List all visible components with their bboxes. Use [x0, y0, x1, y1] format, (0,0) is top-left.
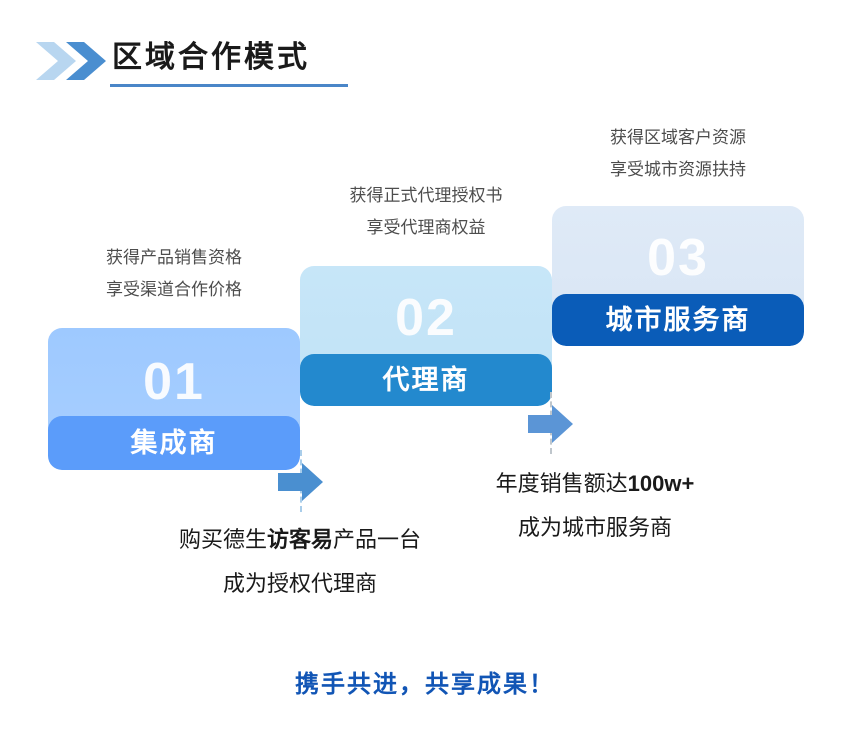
- connector-2-arrow-icon: [528, 404, 574, 449]
- connector-1-note-line-1: 购买德生访客易产品一台: [145, 518, 455, 562]
- note-2-strong: 100w+: [628, 471, 695, 496]
- connector-2-note-line-1: 年度销售额达100w+: [440, 462, 750, 506]
- connector-1-arrow-icon: [278, 462, 324, 507]
- note-1-pre: 购买德生: [179, 527, 267, 552]
- note-1-strong: 访客易: [267, 527, 333, 552]
- connector-1-note-line-2: 成为授权代理商: [145, 562, 455, 606]
- note-2-pre: 年度销售额达: [496, 471, 628, 496]
- connector-group: [0, 0, 850, 737]
- connector-2-note-line-2: 成为城市服务商: [440, 506, 750, 550]
- footer-slogan: 携手共进，共享成果！: [0, 668, 850, 702]
- note-1-post: 产品一台: [333, 527, 421, 552]
